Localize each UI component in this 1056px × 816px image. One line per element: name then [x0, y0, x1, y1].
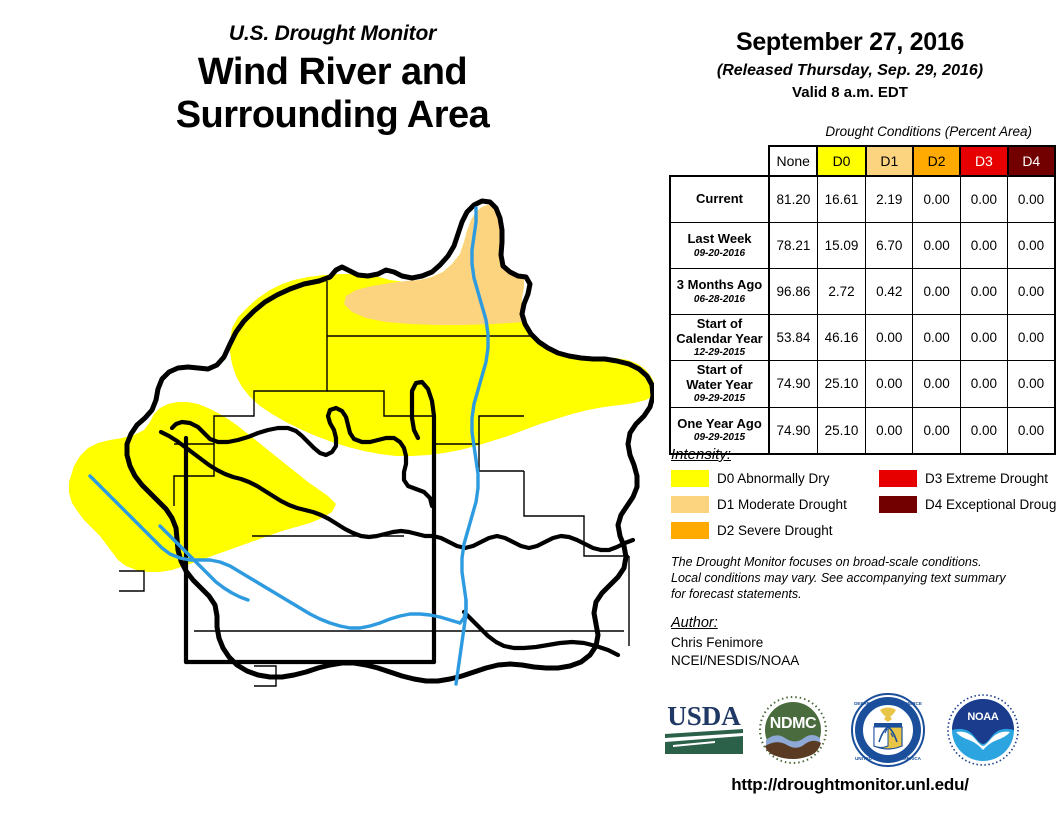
noaa-logo-svg: NOAA [945, 692, 1021, 768]
author-title: Author: [671, 615, 1001, 631]
row-label-text: 3 Months Ago [675, 278, 764, 293]
table-cell-d0: 25.10 [817, 361, 865, 407]
legend-swatch-d1 [671, 496, 709, 513]
table-cell-d3: 0.00 [960, 223, 1007, 269]
d0-region-west [69, 402, 336, 572]
table-row: Last Week09-20-201678.2115.096.700.000.0… [670, 223, 1055, 269]
table-row-label: Last Week09-20-2016 [670, 223, 769, 269]
table-row-label: Current [670, 176, 769, 223]
table-cell-d3: 0.00 [960, 176, 1007, 223]
table-cell-d1: 0.00 [866, 361, 913, 407]
table-cell-d2: 0.00 [913, 223, 960, 269]
table-header-row: NoneD0D1D2D3D4 [670, 146, 1055, 176]
region-title-line1: Wind River and [60, 51, 605, 94]
valid-time: Valid 8 a.m. EDT [660, 84, 1040, 101]
legend-note-line3: for forecast statements. [671, 586, 1041, 602]
usda-logo: USDA [663, 698, 745, 761]
table-cell-d1: 6.70 [866, 223, 913, 269]
legend-title: Intensity: [671, 446, 1041, 463]
row-label-text: Start of [675, 363, 764, 378]
table-row: Start ofWater Year09-29-201574.9025.100.… [670, 361, 1055, 407]
table-cell-d0: 2.72 [817, 269, 865, 315]
legend-grid: D0 Abnormally DryD1 Moderate DroughtD2 S… [671, 470, 1041, 548]
legend-note-line1: The Drought Monitor focuses on broad-sca… [671, 554, 1041, 570]
drought-monitor-supertitle: U.S. Drought Monitor [60, 22, 605, 45]
d0-region-north [230, 204, 654, 456]
table-cell-d4: 0.00 [1008, 315, 1055, 361]
row-label-text: Last Week [675, 232, 764, 247]
released-date: (Released Thursday, Sep. 29, 2016) [660, 62, 1040, 80]
date-block: September 27, 2016 (Released Thursday, S… [660, 28, 1040, 101]
region-title: Wind River and Surrounding Area [60, 51, 605, 136]
legend-entry-d0: D0 Abnormally Dry [671, 470, 830, 487]
noaa-logo: NOAA [945, 692, 1021, 773]
table-col-head-d3: D3 [960, 146, 1007, 176]
legend-swatch-d4 [879, 496, 917, 513]
table-cell-d2: 0.00 [913, 361, 960, 407]
table-row: Current81.2016.612.190.000.000.00 [670, 176, 1055, 223]
d1-region-northeast [344, 204, 524, 325]
table-cell-none: 74.90 [769, 361, 817, 407]
svg-text:DEPARTMENT OF COMMERCE: DEPARTMENT OF COMMERCE [854, 701, 922, 706]
author-affiliation: NCEI/NESDIS/NOAA [671, 652, 1001, 670]
table-body: Current81.2016.612.190.000.000.00Last We… [670, 176, 1055, 454]
table-col-head-d4: D4 [1008, 146, 1055, 176]
legend-entry-d3: D3 Extreme Drought [879, 470, 1048, 487]
commerce-seal-svg: DEPARTMENT OF COMMERCE UNITED STATES OF … [850, 692, 926, 768]
table-row-label: 3 Months Ago06-28-2016 [670, 269, 769, 315]
table-row-label: Start ofCalendar Year12-29-2015 [670, 315, 769, 361]
legend-label-d1: D1 Moderate Drought [717, 497, 847, 512]
table-cell-d3: 0.00 [960, 315, 1007, 361]
row-label-text: Start of [675, 317, 764, 332]
table-col-head-d2: D2 [913, 146, 960, 176]
legend-swatch-d2 [671, 522, 709, 539]
row-label-text: Water Year [675, 378, 764, 393]
legend-entry-d1: D1 Moderate Drought [671, 496, 847, 513]
drought-monitor-url[interactable]: http://droughtmonitor.unl.edu/ [660, 775, 1040, 795]
table-col-head-none: None [769, 146, 817, 176]
table-corner-cell [670, 146, 769, 176]
legend-label-d3: D3 Extreme Drought [925, 471, 1048, 486]
title-block: U.S. Drought Monitor Wind River and Surr… [60, 22, 605, 136]
legend-entry-d2: D2 Severe Drought [671, 522, 833, 539]
table-row-label: Start ofWater Year09-29-2015 [670, 361, 769, 407]
table-col-head-d0: D0 [817, 146, 865, 176]
table-row: 3 Months Ago06-28-201696.862.720.420.000… [670, 269, 1055, 315]
row-label-text: Current [675, 192, 764, 207]
legend-label-d0: D0 Abnormally Dry [717, 471, 830, 486]
row-sublabel-date: 09-29-2015 [675, 432, 764, 443]
legend-label-d4: D4 Exceptional Drought [925, 497, 1056, 512]
table-cell-d3: 0.00 [960, 269, 1007, 315]
ndmc-logo-svg: NDMC [757, 694, 829, 766]
svg-text:NOAA: NOAA [967, 711, 999, 723]
table-cell-d1: 2.19 [866, 176, 913, 223]
table-cell-d3: 0.00 [960, 361, 1007, 407]
svg-text:NDMC: NDMC [770, 715, 817, 732]
author-block: Author: Chris Fenimore NCEI/NESDIS/NOAA [671, 615, 1001, 669]
ndmc-logo: NDMC [757, 694, 829, 771]
row-label-text: One Year Ago [675, 417, 764, 432]
table-cell-d4: 0.00 [1008, 269, 1055, 315]
table-cell-d0: 46.16 [817, 315, 865, 361]
table-cell-d2: 0.00 [913, 315, 960, 361]
table-cell-d0: 16.61 [817, 176, 865, 223]
table-cell-none: 96.86 [769, 269, 817, 315]
legend-swatch-d3 [879, 470, 917, 487]
table-cell-d1: 0.00 [866, 315, 913, 361]
row-sublabel-date: 09-29-2015 [675, 393, 764, 404]
author-name: Chris Fenimore [671, 634, 1001, 652]
usda-logo-svg: USDA [663, 698, 745, 756]
drought-conditions-table: NoneD0D1D2D3D4 Current81.2016.612.190.00… [669, 145, 1056, 455]
wind-river-drought-map[interactable] [24, 176, 654, 706]
table-cell-d4: 0.00 [1008, 223, 1055, 269]
table-cell-d1: 0.42 [866, 269, 913, 315]
legend-swatch-d0 [671, 470, 709, 487]
commerce-seal-logo: DEPARTMENT OF COMMERCE UNITED STATES OF … [850, 692, 926, 773]
table-cell-d4: 0.00 [1008, 176, 1055, 223]
legend-label-d2: D2 Severe Drought [717, 523, 833, 538]
legend-note: The Drought Monitor focuses on broad-sca… [671, 554, 1041, 602]
legend-entry-d4: D4 Exceptional Drought [879, 496, 1056, 513]
logo-row: USDA NDMC DEPARTMENT OF COMME [660, 690, 1040, 770]
svg-text:USDA: USDA [667, 701, 741, 731]
row-label-text: Calendar Year [675, 332, 764, 347]
map-svg [24, 176, 654, 706]
intensity-legend: Intensity: D0 Abnormally DryD1 Moderate … [671, 446, 1041, 602]
table-cell-none: 81.20 [769, 176, 817, 223]
table-row: Start ofCalendar Year12-29-201553.8446.1… [670, 315, 1055, 361]
row-sublabel-date: 06-28-2016 [675, 294, 764, 305]
table-cell-none: 78.21 [769, 223, 817, 269]
table-col-head-d1: D1 [866, 146, 913, 176]
table-cell-d4: 0.00 [1008, 361, 1055, 407]
valid-date: September 27, 2016 [660, 28, 1040, 57]
table-cell-d2: 0.00 [913, 176, 960, 223]
table-header: NoneD0D1D2D3D4 [670, 146, 1055, 176]
region-title-line2: Surrounding Area [60, 94, 605, 137]
legend-note-line2: Local conditions may vary. See accompany… [671, 570, 1041, 586]
row-sublabel-date: 12-29-2015 [675, 347, 764, 358]
table-cell-d2: 0.00 [913, 269, 960, 315]
table-cell-d0: 15.09 [817, 223, 865, 269]
svg-text:UNITED STATES OF AMERICA: UNITED STATES OF AMERICA [855, 756, 922, 761]
table-caption: Drought Conditions (Percent Area) [660, 124, 1035, 139]
table-cell-none: 53.84 [769, 315, 817, 361]
row-sublabel-date: 09-20-2016 [675, 248, 764, 259]
